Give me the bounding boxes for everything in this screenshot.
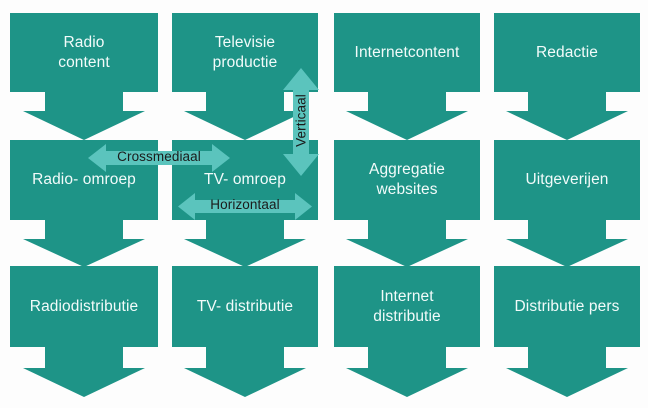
box-label-line1: TV- distributie (197, 297, 293, 317)
down-arrow-internet-2 (334, 220, 480, 267)
down-arrow-internet-3 (334, 347, 480, 397)
box-label-line1: Internet (373, 287, 440, 307)
down-arrow-pers-2 (494, 220, 640, 267)
box-label-line1: Internetcontent (355, 43, 460, 63)
down-arrow-radio-1 (10, 92, 158, 140)
box-label-line2: distributie (373, 307, 440, 327)
down-arrow-pers-1 (494, 92, 640, 140)
box-internet-distributie[interactable]: Internet distributie (334, 266, 480, 347)
box-aggregatie-websites[interactable]: Aggregatie websites (334, 140, 480, 220)
box-label-line1: Aggregatie (369, 160, 445, 180)
box-redactie[interactable]: Redactie (494, 13, 640, 92)
down-arrow-radio-3 (10, 347, 158, 397)
box-label-line2: content (58, 53, 110, 73)
box-label-line1: Uitgeverijen (525, 170, 608, 190)
down-arrow-televisie-3 (172, 347, 318, 397)
double-arrow-label-crossmediaal: Crossmediaal (88, 149, 230, 164)
double-arrow-label-verticaal: Verticaal (294, 86, 309, 156)
diagram-canvas: Radio content Televisie productie Intern… (0, 0, 648, 408)
box-label-line1: Redactie (536, 43, 598, 63)
box-label-line1: Radio (58, 33, 110, 53)
box-radio-content[interactable]: Radio content (10, 13, 158, 92)
box-label-line1: Radio- omroep (32, 170, 136, 190)
box-label-line1: Distributie pers (515, 297, 620, 317)
double-arrow-label-horizontaal: Horizontaal (178, 197, 312, 212)
box-distributie-pers[interactable]: Distributie pers (494, 266, 640, 347)
box-label-line2: productie (213, 53, 278, 73)
down-arrow-televisie-2 (172, 220, 318, 267)
down-arrow-radio-2 (10, 220, 158, 267)
box-label-line1: Televisie (213, 33, 278, 53)
box-label-line1: TV- omroep (204, 170, 286, 190)
box-label-line1: Radiodistributie (30, 297, 138, 317)
box-label-line2: websites (369, 180, 445, 200)
box-radiodistributie[interactable]: Radiodistributie (10, 266, 158, 347)
down-arrow-pers-3 (494, 347, 640, 397)
box-tv-distributie[interactable]: TV- distributie (172, 266, 318, 347)
down-arrow-internet-1 (334, 92, 480, 140)
box-uitgeverijen[interactable]: Uitgeverijen (494, 140, 640, 220)
box-internetcontent[interactable]: Internetcontent (334, 13, 480, 92)
